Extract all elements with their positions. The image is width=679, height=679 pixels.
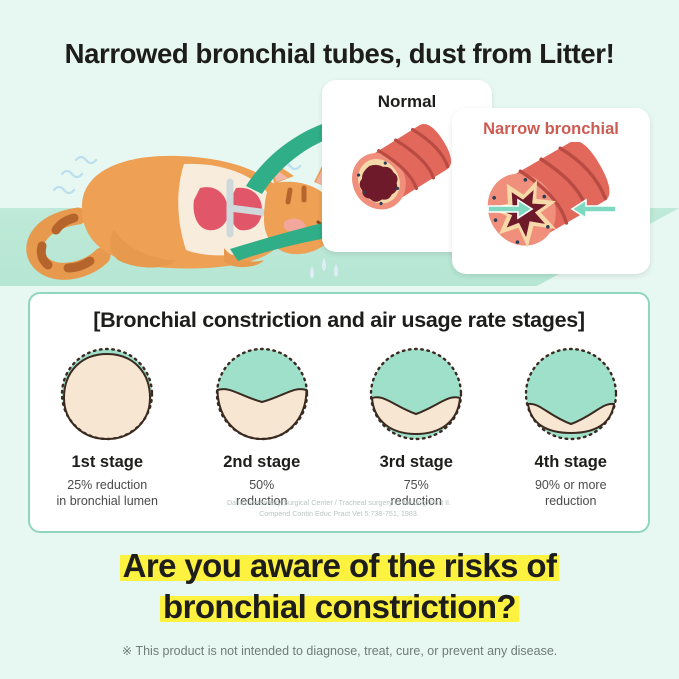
narrow-bronchial-tube-illustration — [476, 142, 628, 270]
stage-item: 3rd stage 75%reduction — [341, 342, 491, 509]
stages-list: 1st stage 25% reductionin bronchial lume… — [30, 342, 648, 509]
bottom-headline-line-1: Are you aware of the risks of — [0, 546, 679, 587]
stage-3-diagram — [364, 342, 468, 446]
stage-name: 2nd stage — [187, 453, 337, 472]
stage-item: 4th stage 90% or morereduction — [496, 342, 646, 509]
bottom-headline-line-2: bronchial constriction? — [0, 587, 679, 628]
stage-name: 1st stage — [32, 453, 182, 472]
citation-line-1: Dallas Veterinary Surgical Center / Trac… — [30, 498, 648, 508]
card-narrow-title: Narrow bronchial — [452, 120, 650, 139]
card-narrow-bronchial: Narrow bronchial — [452, 108, 650, 274]
page-title: Narrowed bronchial tubes, dust from Litt… — [0, 38, 679, 70]
disclaimer-text: ※ This product is not intended to diagno… — [0, 643, 679, 658]
stage-item: 2nd stage 50%reduction — [187, 342, 337, 509]
stages-panel: [Bronchial constriction and air usage ra… — [28, 292, 650, 533]
stage-item: 1st stage 25% reductionin bronchial lume… — [32, 342, 182, 509]
stage-4-diagram — [519, 342, 623, 446]
citation-line-2: Compend Contin Educ Pract Vet 5:738-751,… — [30, 509, 648, 519]
stages-panel-title: [Bronchial constriction and air usage ra… — [30, 308, 648, 333]
infographic-root: Narrowed bronchial tubes, dust from Litt… — [0, 0, 679, 679]
stage-1-diagram — [55, 342, 159, 446]
stage-2-diagram — [210, 342, 314, 446]
stage-name: 4th stage — [496, 453, 646, 472]
bottom-headline: Are you aware of the risks of bronchial … — [0, 546, 679, 628]
citation: Dallas Veterinary Surgical Center / Trac… — [30, 498, 648, 519]
stage-name: 3rd stage — [341, 453, 491, 472]
